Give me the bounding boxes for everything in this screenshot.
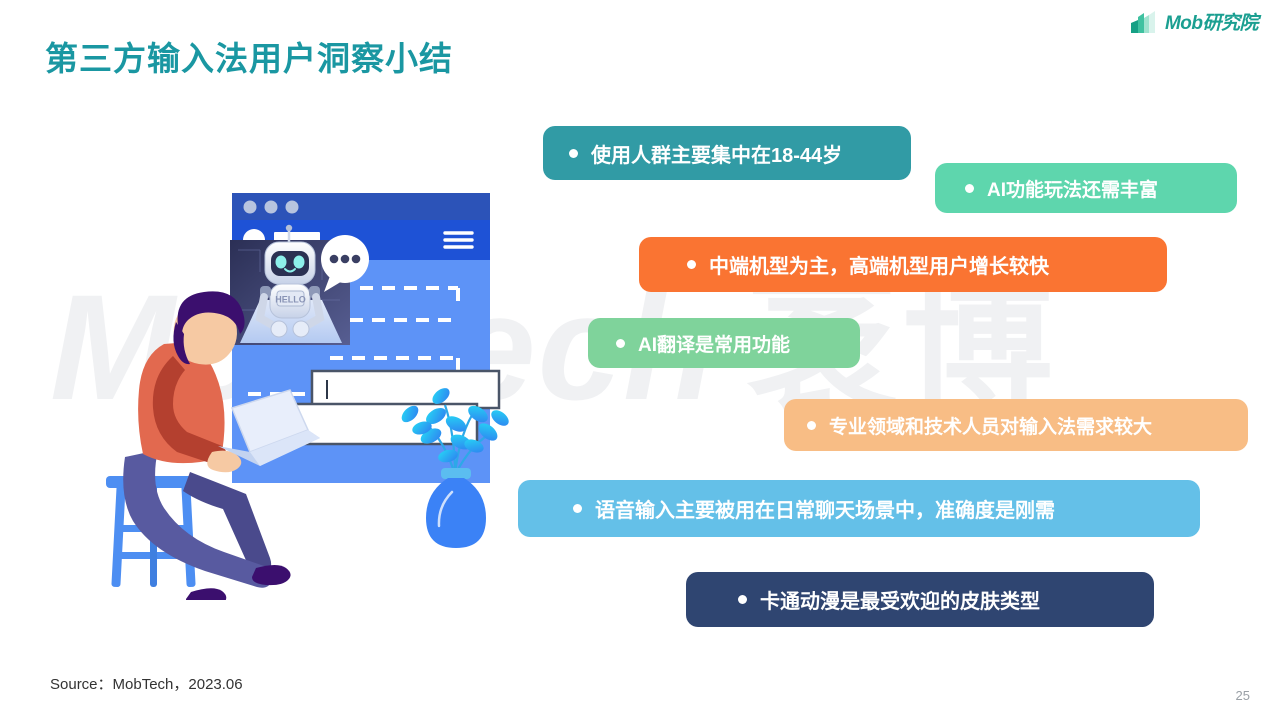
bullet-dot-icon bbox=[569, 149, 578, 158]
insight-pill-label: 专业领域和技术人员对输入法需求较大 bbox=[829, 412, 1152, 439]
insight-pill-label: 使用人群主要集中在18-44岁 bbox=[591, 139, 842, 168]
insight-pill-professional-demand[interactable]: 专业领域和技术人员对输入法需求较大 bbox=[784, 399, 1248, 451]
mob-research-logo: Mob研究院 bbox=[1129, 8, 1258, 35]
bullet-dot-icon bbox=[616, 339, 625, 348]
insight-pill-label: AI功能玩法还需丰富 bbox=[987, 175, 1158, 202]
insight-pill-ai-translation[interactable]: AI翻译是常用功能 bbox=[588, 318, 860, 368]
text-input-box-upper bbox=[312, 371, 499, 408]
insight-pill-label: 中端机型为主，高端机型用户增长较快 bbox=[709, 250, 1049, 279]
bullet-dot-icon bbox=[687, 260, 696, 269]
person-chatting-with-ai-robot-illustration: HELLO bbox=[60, 180, 530, 600]
insight-pill-voice-input[interactable]: 语音输入主要被用在日常聊天场景中，准确度是刚需 bbox=[518, 480, 1200, 537]
svg-text:HELLO: HELLO bbox=[275, 295, 306, 305]
insight-pill-skin-type[interactable]: 卡通动漫是最受欢迎的皮肤类型 bbox=[686, 572, 1154, 627]
bullet-dot-icon bbox=[965, 184, 974, 193]
logo-text: Mob研究院 bbox=[1165, 8, 1258, 35]
insight-pill-label: 语音输入主要被用在日常聊天场景中，准确度是刚需 bbox=[595, 494, 1055, 523]
insight-pill-age-range[interactable]: 使用人群主要集中在18-44岁 bbox=[543, 126, 911, 180]
bullet-dot-icon bbox=[573, 504, 582, 513]
insight-pill-device-tier[interactable]: 中端机型为主，高端机型用户增长较快 bbox=[639, 237, 1167, 292]
bullet-dot-icon bbox=[807, 421, 816, 430]
bullet-dot-icon bbox=[738, 595, 747, 604]
insight-pill-label: AI翻译是常用功能 bbox=[638, 330, 790, 357]
insight-pill-ai-features[interactable]: AI功能玩法还需丰富 bbox=[935, 163, 1237, 213]
source-note: Source：MobTech，2023.06 bbox=[50, 673, 243, 694]
insight-pill-label: 卡通动漫是最受欢迎的皮肤类型 bbox=[760, 585, 1040, 614]
mob-bar-chart-logo-icon bbox=[1129, 9, 1159, 35]
page-number: 25 bbox=[1236, 688, 1250, 703]
page-title: 第三方输入法用户洞察小结 bbox=[45, 32, 453, 80]
